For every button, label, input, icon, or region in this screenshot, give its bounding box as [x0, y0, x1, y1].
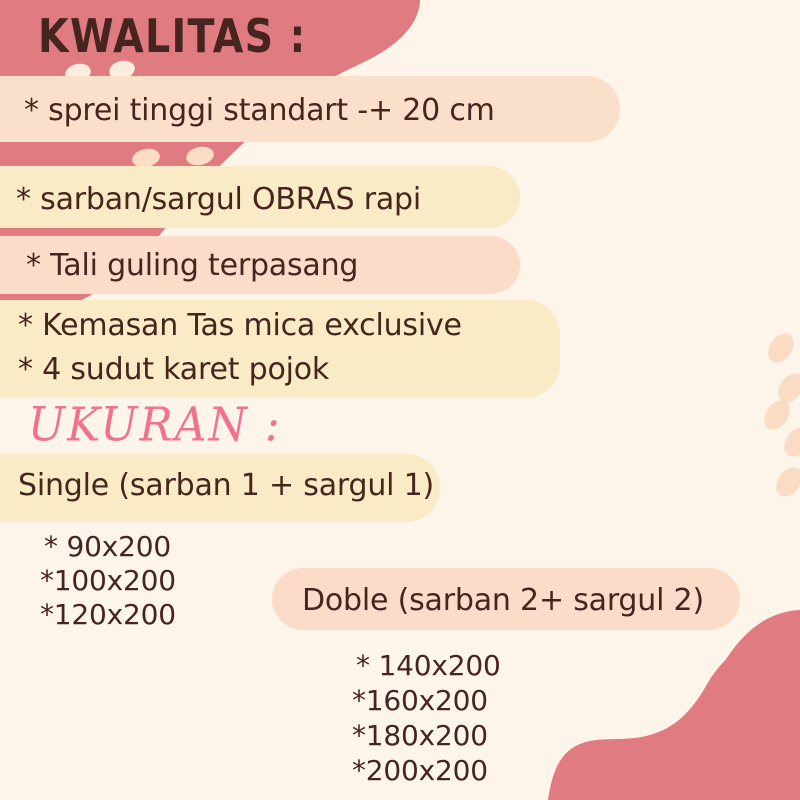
quality-item-2: * sarban/sargul OBRAS rapi [16, 182, 421, 218]
double-label: Doble (sarban 2+ sargul 2) [302, 583, 704, 619]
poster-content: KWALITAS : * sprei tinggi standart -+ 20… [0, 0, 800, 800]
double-size-4: *200x200 [352, 752, 488, 790]
single-label: Single (sarban 1 + sargul 1) [18, 468, 434, 504]
double-size-1: * 140x200 [356, 647, 501, 685]
quality-item-1: * sprei tinggi standart -+ 20 cm [24, 93, 495, 129]
double-size-3: *180x200 [352, 717, 488, 755]
quality-item-5: * 4 sudut karet pojok [18, 352, 329, 388]
single-size-3: *120x200 [40, 596, 176, 634]
sizes-heading: UKURAN : [28, 398, 282, 453]
single-size-1: * 90x200 [44, 528, 171, 566]
promo-poster: KWALITAS : * sprei tinggi standart -+ 20… [0, 0, 800, 800]
quality-item-3: * Tali guling terpasang [26, 248, 358, 284]
single-size-2: *100x200 [40, 562, 176, 600]
quality-heading: KWALITAS : [38, 8, 307, 64]
quality-item-4: * Kemasan Tas mica exclusive [18, 308, 462, 344]
double-size-2: *160x200 [352, 682, 488, 720]
